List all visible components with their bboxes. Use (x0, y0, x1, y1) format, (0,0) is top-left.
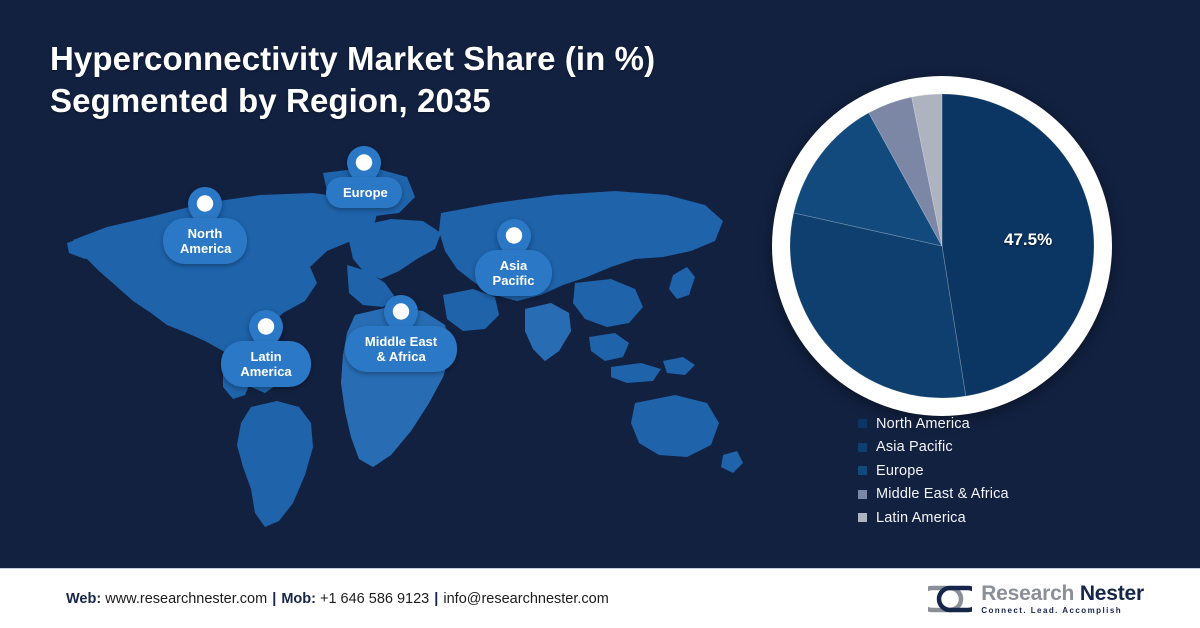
map-marker-label: North America (163, 218, 247, 264)
company-logo[interactable]: Research Nester Connect. Lead. Accomplis… (928, 583, 1144, 615)
title-line-2: Segmented by Region, 2035 (50, 80, 810, 122)
footer-mob-value: +1 646 586 9123 (320, 591, 429, 607)
map-marker-label: Europe (326, 177, 402, 208)
logo-word-nester: Nester (1080, 582, 1144, 605)
infographic-canvas: Hyperconnectivity Market Share (in %) Se… (0, 0, 1200, 628)
legend-item-europe[interactable]: Europe (858, 459, 1009, 483)
legend-swatch-icon (858, 490, 867, 499)
legend-label: Latin America (876, 510, 966, 526)
legend-swatch-icon (858, 419, 867, 428)
legend-item-latin-america[interactable]: Latin America (858, 506, 1009, 530)
pie-slice-label-north-america: 47.5% (1004, 230, 1052, 250)
footer-web-value[interactable]: www.researchnester.com (105, 591, 267, 607)
legend-label: Europe (876, 463, 924, 479)
footer-mob-label: Mob: (281, 591, 316, 607)
logo-tagline: Connect. Lead. Accomplish (981, 607, 1144, 615)
logo-word-research: Research (981, 582, 1074, 605)
footer-separator-1: | (271, 591, 277, 607)
map-marker-north-america[interactable]: North America (163, 187, 247, 264)
pie-chart: 47.5% (766, 70, 1118, 422)
legend-label: Asia Pacific (876, 439, 953, 455)
legend-swatch-icon (858, 466, 867, 475)
map-marker-label: Asia Pacific (475, 250, 552, 296)
footer-email[interactable]: info@researchnester.com (443, 591, 608, 607)
title-line-1: Hyperconnectivity Market Share (in %) (50, 38, 810, 80)
pie-chart-svg (766, 70, 1118, 422)
map-marker-middle-east-africa[interactable]: Middle East & Africa (345, 295, 457, 372)
map-marker-label: Latin America (221, 341, 311, 387)
footer-contact-line: Web: www.researchnester.com | Mob: +1 64… (66, 591, 609, 607)
logo-wordmark: Research Nester Connect. Lead. Accomplis… (981, 583, 1144, 615)
map-marker-label: Middle East & Africa (345, 326, 457, 372)
legend-swatch-icon (858, 443, 867, 452)
legend-item-asia-pacific[interactable]: Asia Pacific (858, 436, 1009, 460)
footer-web-label: Web: (66, 591, 101, 607)
legend-item-north-america[interactable]: North America (858, 412, 1009, 436)
chain-links-icon (928, 584, 972, 614)
legend-swatch-icon (858, 513, 867, 522)
legend-label: Middle East & Africa (876, 486, 1009, 502)
chart-legend: North America Asia Pacific Europe Middle… (858, 412, 1009, 530)
map-marker-latin-america[interactable]: Latin America (221, 310, 311, 387)
world-map: North America Europe Asia Pacific Latin … (55, 155, 745, 535)
map-marker-europe[interactable]: Europe (326, 146, 402, 208)
map-marker-asia-pacific[interactable]: Asia Pacific (475, 219, 552, 296)
legend-label: North America (876, 416, 970, 432)
footer-bar: Web: www.researchnester.com | Mob: +1 64… (0, 568, 1200, 628)
legend-item-middle-east-africa[interactable]: Middle East & Africa (858, 483, 1009, 507)
footer-separator-2: | (433, 591, 439, 607)
page-title: Hyperconnectivity Market Share (in %) Se… (50, 38, 810, 122)
